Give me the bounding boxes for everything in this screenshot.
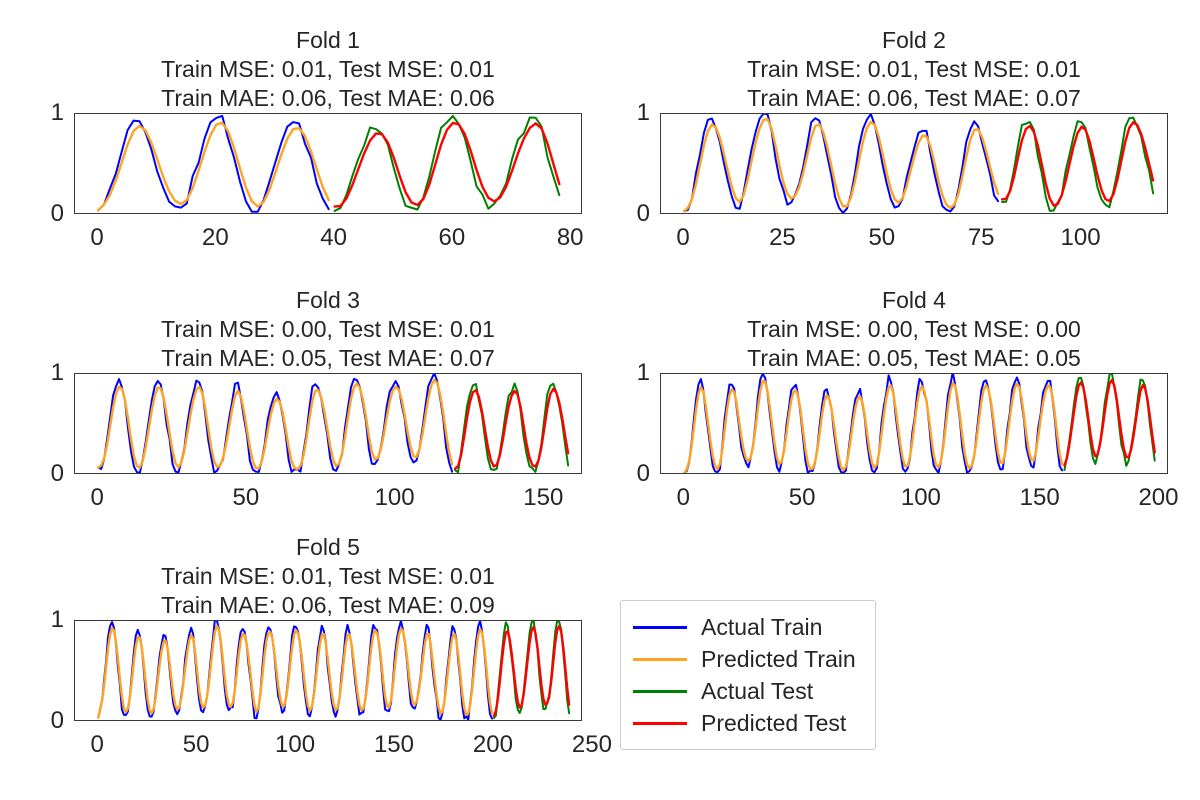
- x-tick-label: 75: [968, 226, 995, 250]
- x-tick-label: 0: [91, 486, 104, 510]
- legend-swatch-actual_train: [633, 626, 687, 629]
- legend-swatch-predicted_test: [633, 722, 687, 725]
- y-tick-label: 1: [614, 101, 650, 125]
- plot-area-fold-2: [660, 113, 1168, 214]
- series-actual-train: [684, 374, 1062, 473]
- panel-fold-label: Fold 2: [570, 26, 1200, 55]
- series-predicted-test: [1064, 380, 1154, 466]
- x-tick-label: 20: [202, 226, 229, 250]
- x-tick-label: 0: [676, 226, 689, 250]
- panel-fold-label: Fold 4: [570, 286, 1200, 315]
- legend-label-predicted_train: Predicted Train: [701, 648, 856, 671]
- series-predicted-train: [684, 381, 1062, 473]
- series-predicted-train: [98, 123, 329, 211]
- x-tick-label: 150: [523, 486, 563, 510]
- panel-mae-line: Train MAE: 0.06, Test MAE: 0.09: [0, 591, 672, 620]
- series-canvas-fold-5: [75, 621, 582, 721]
- legend-label-predicted_test: Predicted Test: [701, 712, 846, 735]
- x-tick-label: 100: [275, 733, 315, 757]
- panel-mae-line: Train MAE: 0.06, Test MAE: 0.07: [570, 84, 1200, 113]
- series-canvas-fold-4: [661, 374, 1168, 474]
- legend-label-actual_train: Actual Train: [701, 616, 822, 639]
- x-tick-label: 100: [1061, 226, 1101, 250]
- plot-area-fold-4: [660, 373, 1168, 474]
- series-predicted-test: [494, 626, 569, 716]
- series-actual-train: [684, 114, 998, 213]
- panel-mse-line: Train MSE: 0.00, Test MSE: 0.00: [570, 315, 1200, 344]
- plot-area-fold-5: [74, 620, 582, 721]
- series-canvas-fold-3: [75, 374, 582, 474]
- legend-label-actual_test: Actual Test: [701, 680, 813, 703]
- series-canvas-fold-2: [661, 114, 1168, 214]
- series-predicted-test: [1002, 122, 1153, 205]
- x-tick-label: 200: [1138, 486, 1178, 510]
- y-tick-label: 1: [28, 608, 64, 632]
- panel-title-fold-2: Fold 2Train MSE: 0.01, Test MSE: 0.01Tra…: [570, 26, 1200, 113]
- legend-item-actual_test[interactable]: Actual Test: [633, 675, 861, 707]
- x-tick-label: 50: [183, 733, 210, 757]
- x-tick-label: 50: [868, 226, 895, 250]
- y-tick-label: 0: [28, 462, 64, 486]
- series-canvas-fold-1: [75, 114, 582, 214]
- y-tick-label: 1: [614, 361, 650, 385]
- panel-fold-label: Fold 5: [0, 533, 672, 562]
- y-tick-label: 0: [28, 202, 64, 226]
- panel-mse-line: Train MSE: 0.01, Test MSE: 0.01: [0, 562, 672, 591]
- x-tick-label: 50: [233, 486, 260, 510]
- x-tick-label: 25: [769, 226, 796, 250]
- y-tick-label: 1: [28, 361, 64, 385]
- plot-area-fold-3: [74, 373, 582, 474]
- panel-mae-line: Train MAE: 0.05, Test MAE: 0.05: [570, 344, 1200, 373]
- x-tick-label: 40: [320, 226, 347, 250]
- panel-mse-line: Train MSE: 0.01, Test MSE: 0.01: [570, 55, 1200, 84]
- x-tick-label: 60: [439, 226, 466, 250]
- panel-title-fold-5: Fold 5Train MSE: 0.01, Test MSE: 0.01Tra…: [0, 533, 672, 620]
- x-tick-label: 200: [473, 733, 513, 757]
- y-tick-label: 0: [614, 462, 650, 486]
- y-tick-label: 0: [614, 202, 650, 226]
- legend-item-actual_train[interactable]: Actual Train: [633, 611, 861, 643]
- legend-swatch-predicted_train: [633, 658, 687, 661]
- legend-item-predicted_train[interactable]: Predicted Train: [633, 643, 861, 675]
- legend-swatch-actual_test: [633, 690, 687, 693]
- x-tick-label: 100: [901, 486, 941, 510]
- x-tick-label: 0: [90, 733, 103, 757]
- panel-title-fold-4: Fold 4Train MSE: 0.00, Test MSE: 0.00Tra…: [570, 286, 1200, 373]
- legend: Actual TrainPredicted TrainActual TestPr…: [620, 600, 876, 750]
- x-tick-label: 80: [557, 226, 584, 250]
- x-tick-label: 50: [789, 486, 816, 510]
- x-tick-label: 250: [572, 733, 612, 757]
- y-tick-label: 0: [28, 709, 64, 733]
- x-tick-label: 0: [677, 486, 690, 510]
- x-tick-label: 0: [90, 226, 103, 250]
- series-predicted-test: [455, 389, 568, 469]
- legend-item-predicted_test[interactable]: Predicted Test: [633, 707, 861, 739]
- plot-area-fold-1: [74, 113, 582, 214]
- y-tick-label: 1: [28, 101, 64, 125]
- x-tick-label: 150: [374, 733, 414, 757]
- x-tick-label: 100: [375, 486, 415, 510]
- x-tick-label: 150: [1020, 486, 1060, 510]
